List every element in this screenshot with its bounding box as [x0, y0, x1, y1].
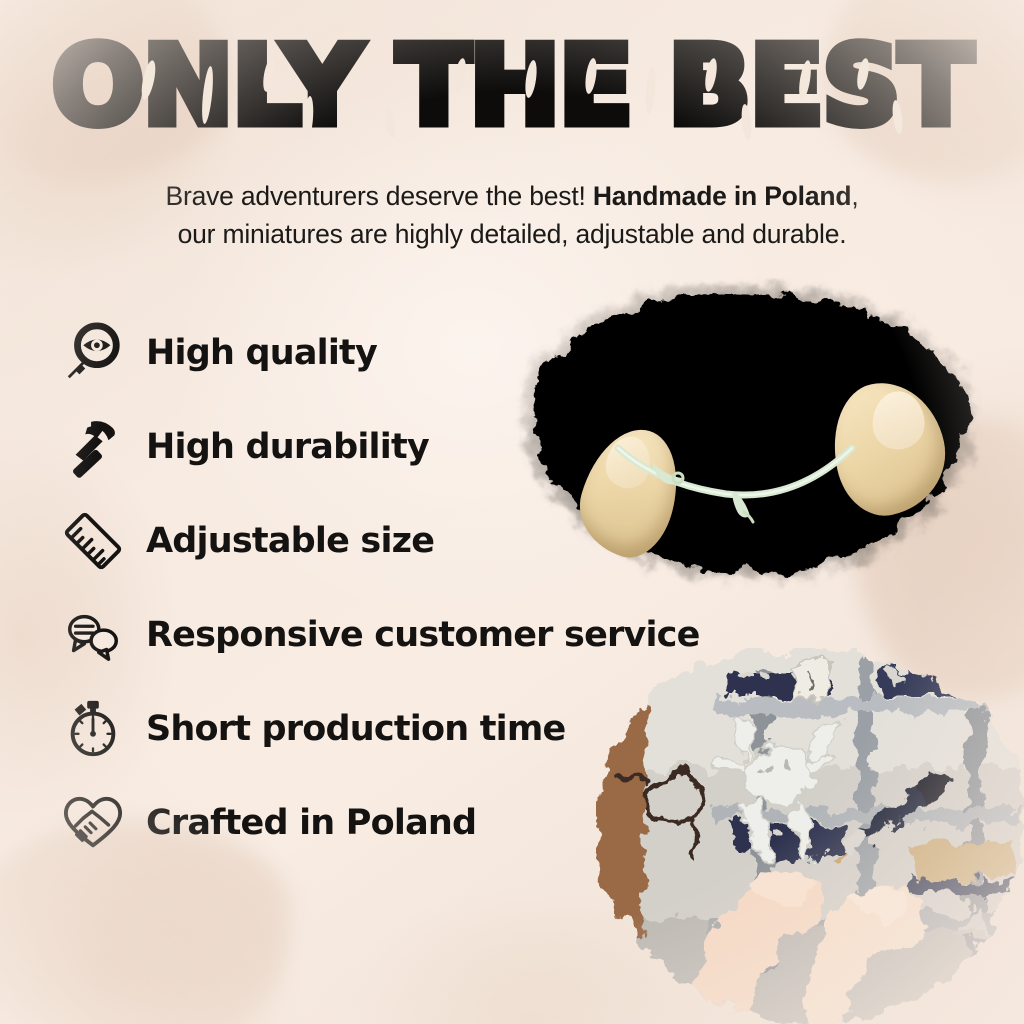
- workshop-painting-photo: [596, 648, 1024, 1024]
- feature-label: Adjustable size: [146, 521, 434, 561]
- subcopy-line1-bold: Handmade in Poland: [593, 181, 852, 211]
- feature-label: Crafted in Poland: [146, 803, 476, 843]
- feature-label: High durability: [146, 427, 429, 467]
- subcopy-line2: our miniatures are highly detailed, adju…: [178, 219, 847, 249]
- subcopy-line1-plain: Brave adventurers deserve the best!: [165, 181, 592, 211]
- flexible-miniature-photo: [512, 278, 982, 590]
- workshop-scene: [596, 648, 1024, 1024]
- magnifier-eye-icon: [62, 322, 124, 384]
- torn-photo-mask: [596, 648, 1024, 1024]
- speech-bubbles-icon: [62, 604, 124, 666]
- heart-handshake-icon: [62, 792, 124, 854]
- hammer-icon: [62, 416, 124, 478]
- stopwatch-icon: [62, 698, 124, 760]
- feature-label: Short production time: [146, 709, 565, 749]
- subcopy-line1-tail: ,: [851, 181, 858, 211]
- bending-miniature-part: [608, 404, 908, 524]
- feature-label: High quality: [146, 333, 377, 373]
- promo-poster: ONLY THE BEST Brave adventurers deserve …: [0, 0, 1024, 1024]
- headline: ONLY THE BEST: [0, 34, 1024, 140]
- ruler-icon: [62, 510, 124, 572]
- subcopy: Brave adventurers deserve the best! Hand…: [72, 178, 952, 253]
